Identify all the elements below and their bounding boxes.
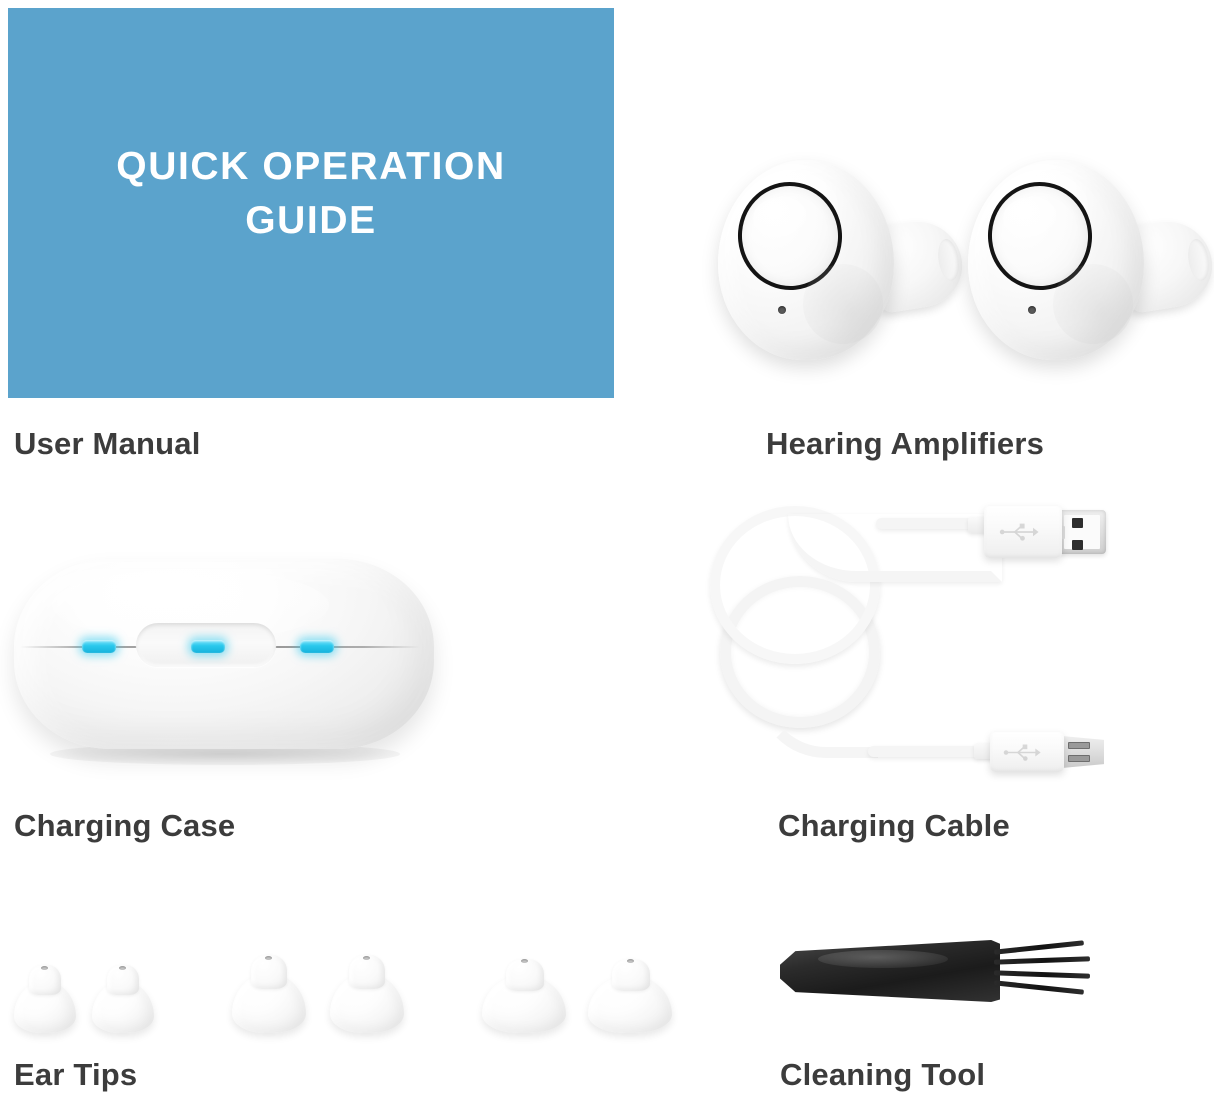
ear-tip-hole-icon <box>119 966 126 970</box>
ear-tip-large-left <box>482 947 566 1033</box>
ear-tip-small-left <box>14 951 76 1033</box>
cable-run-bottom-curve <box>756 684 878 758</box>
cleaning-tool-highlight <box>818 950 948 968</box>
charging-case-led-2 <box>191 640 225 653</box>
charging-case-group <box>10 545 450 775</box>
hearing-amplifiers-group <box>700 150 1210 390</box>
ear-tip-collar <box>506 959 544 991</box>
charging-case-led-1 <box>82 640 116 653</box>
ear-tip-hole-icon <box>41 966 48 970</box>
usb-a-contact-2 <box>1072 540 1083 550</box>
label-charging-case: Charging Case <box>14 808 235 844</box>
ear-tip-small-right <box>92 951 154 1033</box>
usb-a-contact-1 <box>1072 518 1083 528</box>
ear-tip-medium-left <box>232 943 306 1033</box>
ear-tip-hole-icon <box>627 959 634 963</box>
usb-trident-icon <box>1002 743 1042 762</box>
earbud-ring-highlight <box>1001 194 1059 239</box>
label-ear-tips: Ear Tips <box>14 1057 137 1093</box>
cleaning-tool-bristle-3 <box>994 970 1090 978</box>
label-hearing-amplifiers: Hearing Amplifiers <box>766 426 1044 462</box>
earbud-body <box>718 160 894 360</box>
cleaning-tool-bristle-2 <box>994 956 1090 964</box>
ear-tip-collar <box>251 955 287 989</box>
earbud-body <box>968 160 1144 360</box>
earbud-touch-ring <box>733 177 848 295</box>
ear-tip-collar <box>349 955 385 989</box>
label-cleaning-tool: Cleaning Tool <box>780 1057 985 1093</box>
ear-tip-hole-icon <box>521 959 528 963</box>
label-user-manual: User Manual <box>14 426 201 462</box>
label-charging-cable: Charging Cable <box>778 808 1010 844</box>
cleaning-tool-bristle-1 <box>994 940 1084 954</box>
earbud-ring-highlight <box>751 194 809 239</box>
earbud-left <box>718 160 918 370</box>
ear-tip-hole-icon <box>363 956 370 960</box>
cleaning-tool-bristle-4 <box>994 980 1084 994</box>
ear-tip-large-right <box>588 947 672 1033</box>
usb-trident-icon <box>998 522 1040 542</box>
charging-case-led-3 <box>300 640 334 653</box>
cleaning-tool-group <box>770 928 1100 1028</box>
ear-tip-hole-icon <box>265 956 272 960</box>
micro-usb-tip <box>1062 736 1104 768</box>
ear-tip-medium-right <box>330 943 404 1033</box>
earbud-touch-ring <box>983 177 1098 295</box>
package-contents-image: QUICK OPERATION GUIDE User Manual Hearin… <box>0 0 1214 1103</box>
charging-cable-group <box>716 498 1106 788</box>
manual-cover-title: QUICK OPERATION GUIDE <box>76 140 546 248</box>
micro-usb-contact-1 <box>1068 742 1090 749</box>
earbud-right <box>968 160 1168 370</box>
user-manual-cover: QUICK OPERATION GUIDE <box>8 8 614 398</box>
ear-tips-group <box>0 925 700 1035</box>
micro-usb-contact-2 <box>1068 755 1090 762</box>
earbud-microphone-hole-icon <box>778 306 786 314</box>
earbud-microphone-hole-icon <box>1028 306 1036 314</box>
ear-tip-collar <box>612 959 650 991</box>
